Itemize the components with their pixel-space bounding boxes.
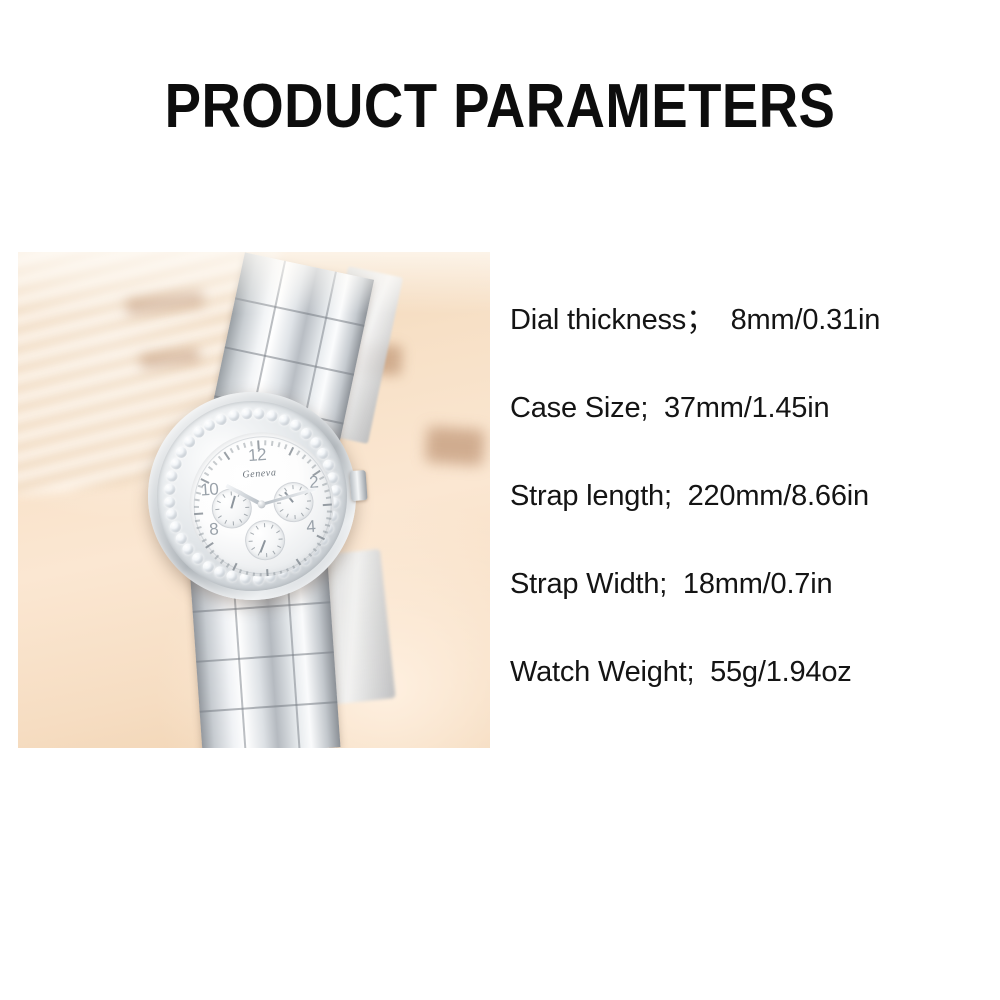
rhinestone <box>214 567 226 579</box>
watch-crown <box>350 470 368 501</box>
dial-tick <box>280 571 283 576</box>
subdial-tick <box>263 523 264 527</box>
dial-tick <box>220 559 225 564</box>
spec-value: 220mm/8.66in <box>688 482 869 511</box>
spec-label: Case Size; <box>510 394 648 423</box>
dial-tick <box>286 568 290 573</box>
subdial-tick <box>278 539 282 540</box>
rhinestone <box>279 414 291 426</box>
dial-tick <box>284 444 288 449</box>
rhinestone <box>226 571 238 583</box>
spec-separator-gap <box>667 570 683 599</box>
subdial-tick <box>276 530 280 533</box>
rhinestone <box>169 521 181 533</box>
rhinestone <box>266 410 278 422</box>
subdial-tick <box>306 500 310 501</box>
spec-label: Strap Width; <box>510 570 667 599</box>
subdial-tick <box>294 515 295 519</box>
dial-tick <box>194 512 203 515</box>
dial-tick <box>204 472 209 476</box>
rhinestone <box>301 427 313 439</box>
spec-row: Strap length; 220mm/8.66in <box>510 482 970 570</box>
spec-label: Dial thickness； <box>510 306 715 335</box>
rhinestone <box>310 437 322 449</box>
dial-tick <box>205 542 214 549</box>
subdial-tick <box>305 507 309 510</box>
dial-tick <box>199 532 204 536</box>
dial-tick <box>195 519 200 522</box>
spec-row: Dial thickness； 8mm/0.31in <box>510 306 970 394</box>
dial-tick <box>230 448 234 453</box>
dial-tick <box>288 447 294 456</box>
dial-tick <box>208 466 213 471</box>
subdial-tick <box>277 545 281 548</box>
dial-tick <box>319 476 324 480</box>
rhinestone <box>202 561 214 573</box>
dial-tick <box>307 459 312 464</box>
subdial-tick <box>286 514 289 518</box>
subdial-tick <box>245 507 249 508</box>
dial-tick <box>313 548 318 553</box>
subdial-tick <box>222 494 225 498</box>
dial-tick <box>323 503 332 506</box>
dial-tick <box>326 517 331 520</box>
rhinestone <box>176 446 188 458</box>
spec-label: Strap length; <box>510 482 672 511</box>
subdial-tick <box>230 491 231 495</box>
dial-tick <box>226 563 230 568</box>
dial-numeral-4: 4 <box>306 517 316 538</box>
dial-tick <box>213 461 218 466</box>
spec-separator-gap <box>694 658 710 687</box>
dial-tick <box>236 445 240 450</box>
dial-tick <box>325 524 330 527</box>
spec-row: Watch Weight; 55g/1.94oz <box>510 658 970 746</box>
subdial-tick <box>215 509 219 510</box>
spec-list: Dial thickness； 8mm/0.31inCase Size; 37m… <box>510 306 970 746</box>
dial-tick <box>243 443 246 448</box>
dial-tick <box>324 489 329 492</box>
rhinestone <box>163 496 175 508</box>
subdial-tick <box>250 532 254 535</box>
spec-value: 18mm/0.7in <box>683 570 833 599</box>
dial-numeral-12: 12 <box>248 445 267 466</box>
dial-tick <box>296 558 303 567</box>
dial-tick <box>194 499 199 502</box>
rhinestone <box>183 543 195 555</box>
dial-tick <box>271 441 274 446</box>
dial-tick <box>277 442 280 447</box>
subdial-tick <box>299 487 302 491</box>
rhinestone-bezel: 12 2 4 8 10 Geneva <box>151 395 354 598</box>
subdial-tick <box>284 488 287 492</box>
dial-tick <box>218 456 223 461</box>
subdial-tick <box>300 513 303 517</box>
subdial-tick <box>270 525 273 529</box>
subdial-tick <box>243 514 247 517</box>
dial-tick <box>232 563 238 572</box>
spec-value: 55g/1.94oz <box>710 658 852 687</box>
spec-separator-gap <box>648 394 664 423</box>
spec-row: Case Size; 37mm/1.45in <box>510 394 970 482</box>
dial-tick <box>326 496 331 499</box>
rhinestone <box>170 458 182 470</box>
dial-tick <box>322 482 327 486</box>
dial-tick <box>196 526 201 529</box>
rhinestone <box>215 413 227 425</box>
dial-tick <box>209 550 214 555</box>
subdial-tick <box>266 553 267 557</box>
watch-case: 12 2 4 8 10 Geneva <box>141 385 363 607</box>
subdial-tick <box>217 515 221 518</box>
subdial-tick <box>257 552 260 556</box>
subdial-tick <box>224 520 227 524</box>
rhinestone <box>165 509 177 521</box>
subdial-tick <box>251 547 255 550</box>
dial-tick <box>316 535 325 541</box>
dial-tick <box>311 464 316 469</box>
rhinestone <box>227 409 239 421</box>
product-image: 12 2 4 8 10 Geneva <box>18 252 490 748</box>
dial-tick <box>323 530 328 534</box>
dial-tick <box>194 506 199 508</box>
subdial-tick <box>239 519 242 523</box>
rhinestone <box>166 470 178 482</box>
subdial-tick <box>279 509 283 512</box>
subdial-tick <box>232 521 233 525</box>
rhinestone <box>317 447 329 459</box>
spec-separator-gap <box>672 482 688 511</box>
spec-value: 8mm/0.31in <box>731 306 881 335</box>
dial-tick <box>202 538 207 542</box>
spec-label: Watch Weight; <box>510 658 694 687</box>
rhinestone <box>163 483 175 495</box>
rhinestone <box>203 419 215 431</box>
dial-tick <box>308 553 313 558</box>
subdial-tick <box>216 501 220 504</box>
dial-tick <box>303 558 308 563</box>
subdial-tick <box>248 541 252 542</box>
dial-tick <box>317 542 322 546</box>
page-title: PRODUCT PARAMETERS <box>60 74 940 139</box>
rhinestone <box>183 436 195 448</box>
rhinestone <box>192 553 204 565</box>
rhinestone <box>240 407 252 419</box>
subdial-tick <box>292 485 293 489</box>
spec-row: Strap Width; 18mm/0.7in <box>510 570 970 658</box>
rhinestone <box>175 533 187 545</box>
dial-tick <box>224 452 231 461</box>
spec-separator-gap <box>715 306 731 335</box>
rhinestone <box>253 407 265 419</box>
subdial-tick <box>272 551 275 555</box>
dial-tick <box>296 450 300 455</box>
dial-tick <box>302 454 307 459</box>
subdial-tick <box>277 503 281 504</box>
dial-tick <box>327 511 332 513</box>
rhinestone <box>193 427 205 439</box>
dial-tick <box>238 569 242 574</box>
subdial-tick <box>255 526 258 530</box>
dial-tick <box>214 555 219 560</box>
rhinestone <box>290 420 302 432</box>
subdial-tick <box>242 499 246 502</box>
spec-value: 37mm/1.45in <box>664 394 829 423</box>
